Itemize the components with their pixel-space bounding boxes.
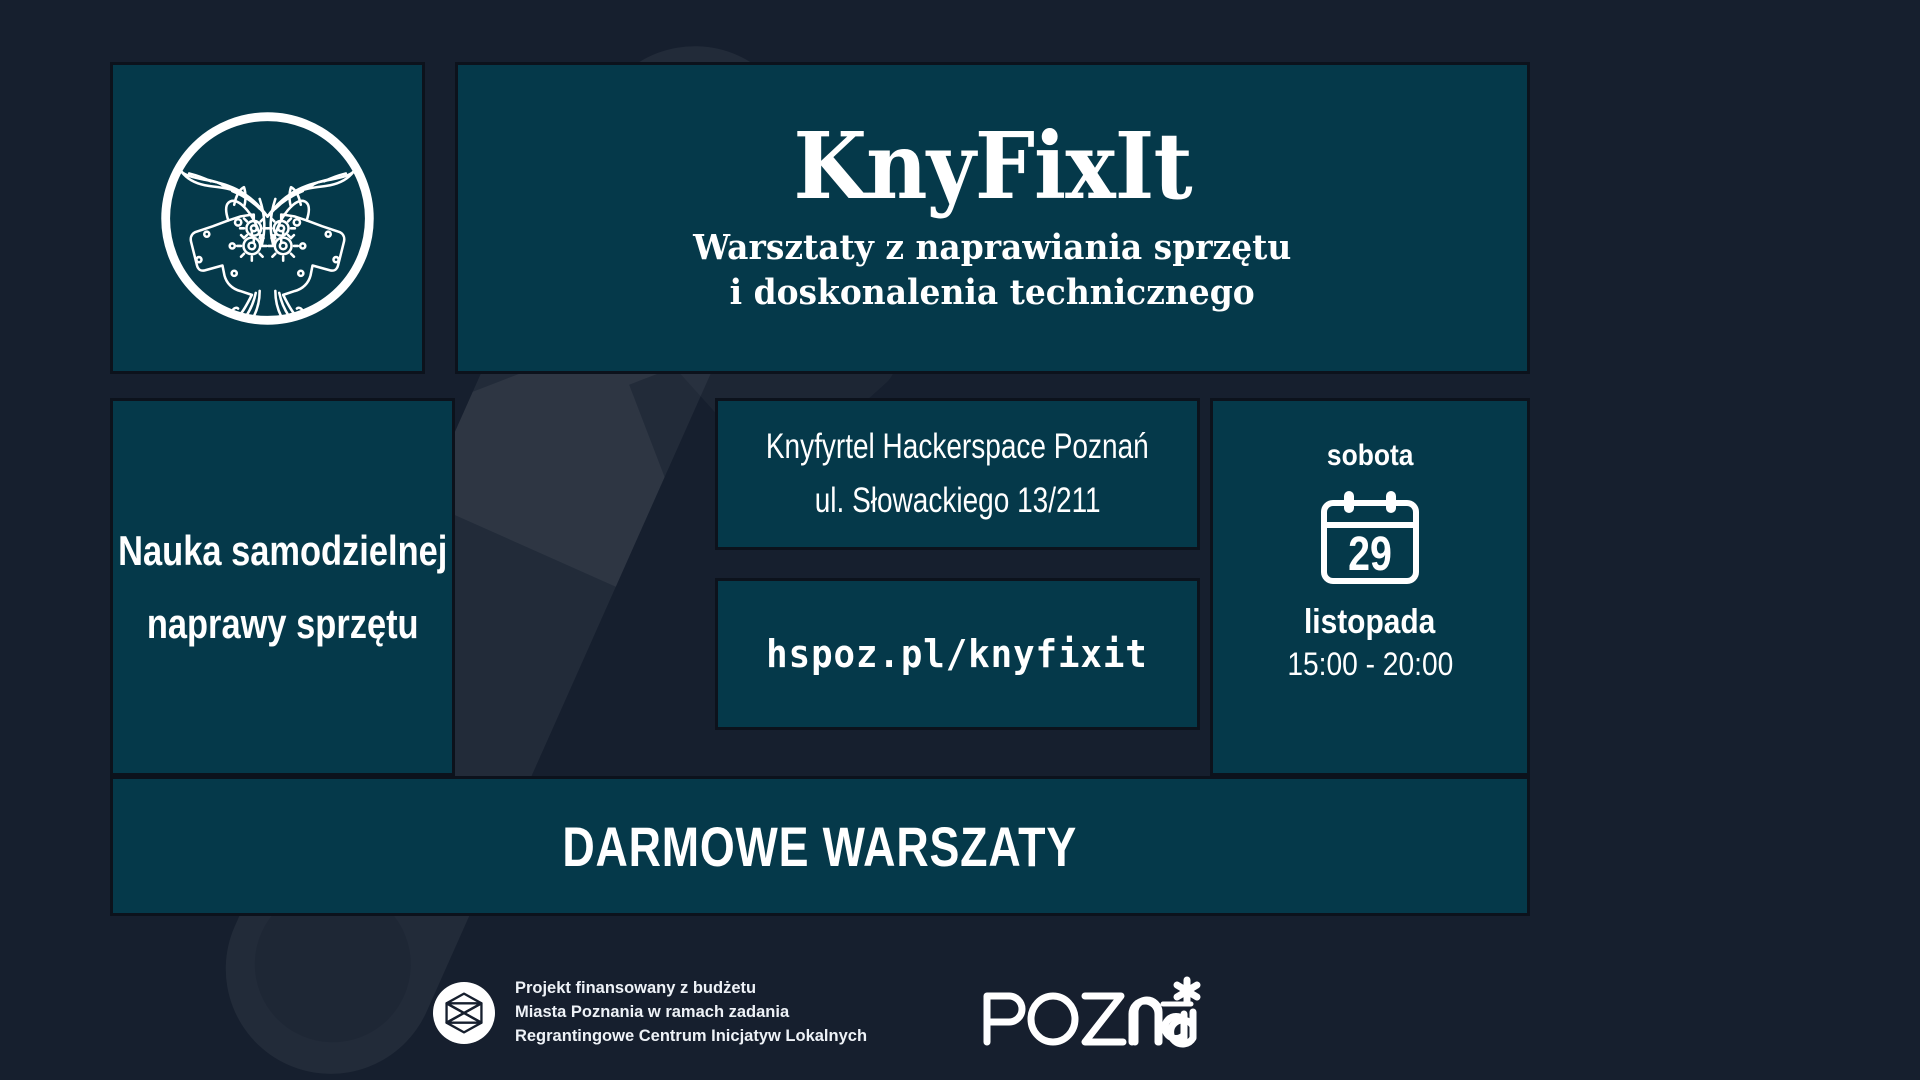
date-month: listopada <box>1304 603 1435 642</box>
venue-line2: ul. Słowackiego 13/211 <box>814 474 1100 528</box>
title-subtitle: Warsztaty z naprawiania sprzętu i doskon… <box>693 226 1291 316</box>
funding-block: Projekt finansowany z budżetu Miasta Poz… <box>433 977 867 1049</box>
venue-and-url-stack: Knyfyrtel Hackerspace Poznań ul. Słowack… <box>715 398 1170 748</box>
calendar-icon: 29 <box>1316 489 1424 589</box>
venue-line1: Knyfyrtel Hackerspace Poznań <box>766 420 1149 474</box>
rcil-hexagon-logo <box>433 982 495 1044</box>
funding-line3: Regrantingowe Centrum Inicjatyw Lokalnyc… <box>515 1025 867 1049</box>
event-url[interactable]: hspoz.pl/knyfixit <box>766 632 1148 676</box>
poznan-logo <box>977 974 1207 1052</box>
funding-line2: Miasta Poznania w ramach zadania <box>515 1001 867 1025</box>
date-panel: sobota 29 listopada 15:00 - 20:00 <box>1210 398 1530 776</box>
free-workshops-text: DARMOWE WARSZATY <box>563 814 1078 879</box>
page-title: KnyFixIt <box>793 120 1191 212</box>
title-panel: KnyFixIt Warsztaty z naprawiania sprzętu… <box>455 62 1530 374</box>
venue-panel: Knyfyrtel Hackerspace Poznań ul. Słowack… <box>715 398 1200 550</box>
funding-line1: Projekt finansowany z budżetu <box>515 977 867 1001</box>
poster-root: KnyFixIt Warsztaty z naprawiania sprzętu… <box>0 0 1920 1080</box>
funding-text: Projekt finansowany z budżetu Miasta Poz… <box>515 977 867 1049</box>
footer: Projekt finansowany z budżetu Miasta Poz… <box>110 946 1530 1080</box>
title-subtitle-line2: i doskonalenia technicznego <box>693 271 1291 316</box>
title-subtitle-line1: Warsztaty z naprawiania sprzętu <box>693 226 1291 271</box>
hackerspace-logo-panel <box>110 62 425 374</box>
tagline-line1: Nauka samodzielnej <box>118 514 447 588</box>
url-panel[interactable]: hspoz.pl/knyfixit <box>715 578 1200 730</box>
date-day-of-week: sobota <box>1327 439 1414 473</box>
tagline-line2: naprawy sprzętu <box>147 587 419 661</box>
tagline-panel: Nauka samodzielnej naprawy sprzętu <box>110 398 455 776</box>
date-time-range: 15:00 - 20:00 <box>1287 646 1453 683</box>
free-workshops-banner: DARMOWE WARSZATY <box>110 776 1530 916</box>
calendar-day-number: 29 <box>1348 527 1392 581</box>
knyfyrtel-horses-circle-logo <box>150 101 385 336</box>
calendar-icon-wrap: 29 <box>1316 489 1424 589</box>
